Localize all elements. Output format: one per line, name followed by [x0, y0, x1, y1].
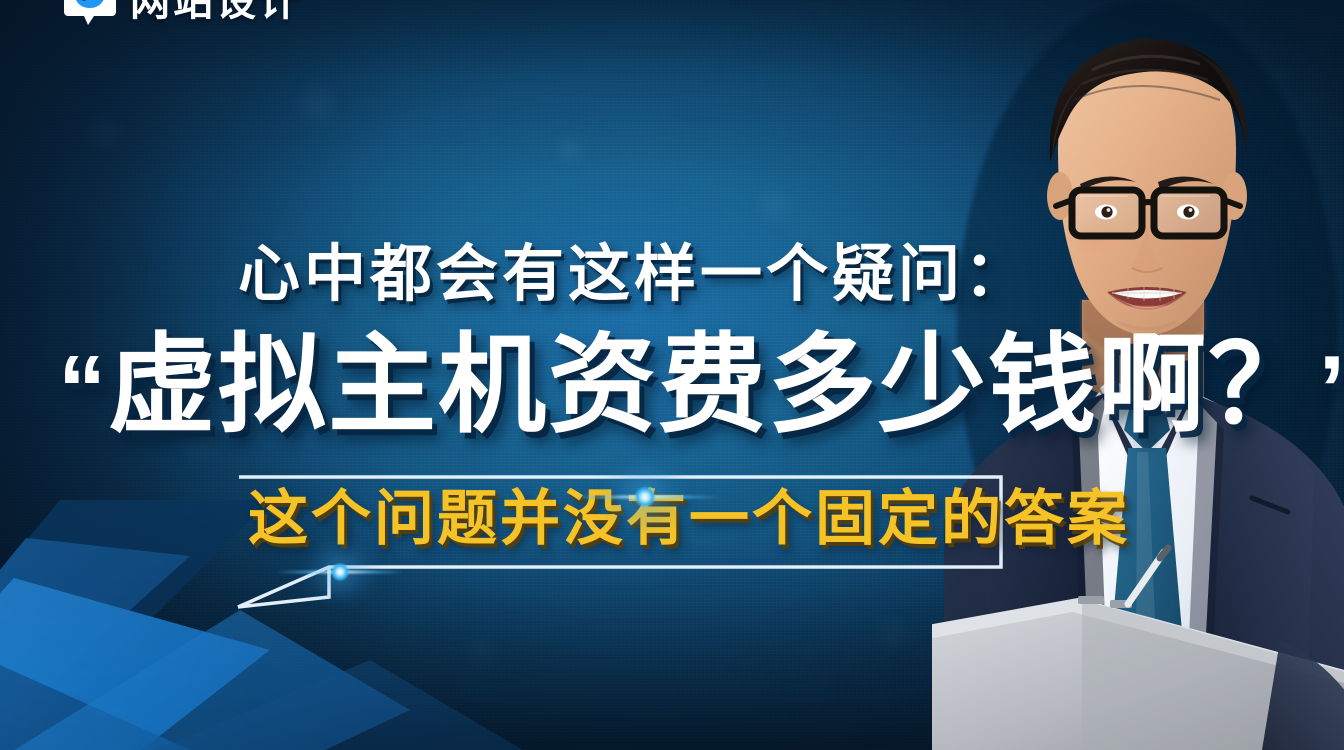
hero-callout: 这个问题并没有一个固定的答案	[248, 489, 1130, 549]
speech-bubble-logo-icon	[62, 0, 118, 30]
hero-headline: “虚拟主机资费多少钱啊？”	[58, 328, 1344, 441]
brand-logo[interactable]: 网站设计	[62, 0, 302, 30]
brand-name: 网站设计	[130, 0, 302, 22]
close-quote: ”	[1318, 336, 1344, 443]
headline-text: 虚拟主机资费多少钱啊？	[108, 324, 1318, 445]
open-quote: “	[58, 336, 108, 443]
hero-banner: 网站设计 心中都会有这样一个疑问： “虚拟主机资费多少钱啊？” 这个问题并没有一…	[0, 0, 1344, 750]
hero-subline: 心中都会有这样一个疑问：	[238, 244, 1030, 306]
